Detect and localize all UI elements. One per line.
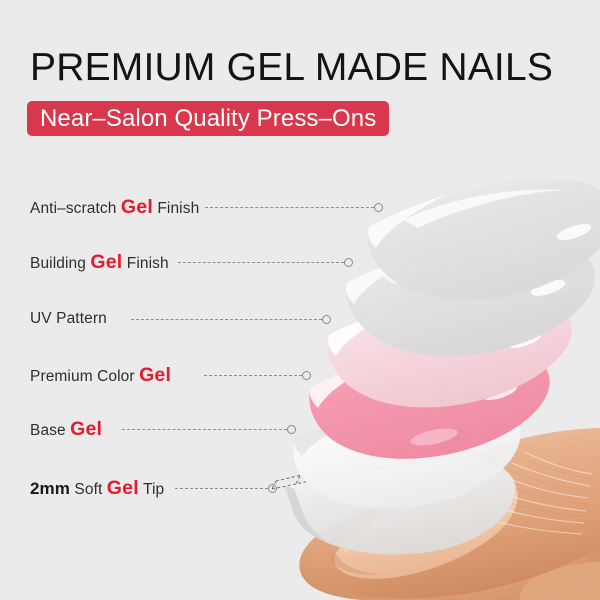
callout-label-part: Gel — [139, 364, 171, 386]
callout-label: UV Pattern — [30, 310, 107, 328]
callout-label: Building Gel Finish — [30, 251, 169, 274]
uv-pattern-layer — [327, 290, 572, 407]
callout-label-part: UV Pattern — [30, 310, 107, 327]
callout-label: Premium Color Gel — [30, 364, 171, 387]
anti-scratch-gel-finish-layer — [367, 179, 600, 301]
leader-endpoint-marker — [302, 371, 311, 380]
callout-2mm-soft-gel-tip: 2mm Soft Gel Tip — [30, 476, 164, 500]
building-gel-finish-layer — [346, 237, 595, 357]
callout-label-part: Gel — [90, 251, 122, 273]
leader-line — [204, 375, 302, 377]
premium-color-gel-layer — [309, 343, 549, 458]
callout-anti-scratch-gel-finish: Anti–scratch Gel Finish — [30, 195, 199, 219]
leader-line — [205, 207, 374, 209]
callout-uv-pattern: UV Pattern — [30, 307, 107, 331]
callout-label-part: 2mm — [30, 479, 70, 498]
callout-label-part: Soft — [70, 481, 107, 498]
leader-line — [122, 429, 287, 431]
callout-label-part: Gel — [121, 196, 153, 218]
nail-layer-artwork — [0, 0, 600, 600]
callout-label: Base Gel — [30, 418, 102, 441]
callout-premium-color-gel: Premium Color Gel — [30, 363, 171, 387]
callout-label: Anti–scratch Gel Finish — [30, 196, 199, 219]
leader-endpoint-marker — [287, 425, 296, 434]
leader-line — [131, 319, 322, 321]
callout-label-part: Building — [30, 255, 90, 272]
leader-line — [175, 488, 268, 490]
callout-base-gel: Base Gel — [30, 417, 102, 441]
leader-line — [178, 262, 344, 264]
callout-label-part: Gel — [107, 477, 139, 499]
callout-label-part: Tip — [139, 481, 164, 498]
callout-label-part: Premium Color — [30, 368, 139, 385]
leader-endpoint-marker — [344, 258, 353, 267]
callout-label: 2mm Soft Gel Tip — [30, 477, 164, 500]
subtitle-badge: Near–Salon Quality Press–Ons — [27, 101, 389, 136]
callout-label-part: Base — [30, 422, 70, 439]
callout-label-part: Finish — [153, 200, 199, 217]
callout-label-part: Finish — [122, 255, 168, 272]
product-infographic: PREMIUM GEL MADE NAILS Near–Salon Qualit… — [0, 0, 600, 600]
leader-endpoint-marker — [322, 315, 331, 324]
page-title: PREMIUM GEL MADE NAILS — [30, 48, 553, 88]
fingertip-illustration — [299, 428, 600, 600]
callout-building-gel-finish: Building Gel Finish — [30, 250, 169, 274]
callout-label-part: Anti–scratch — [30, 200, 121, 217]
leader-endpoint-marker — [374, 203, 383, 212]
base-gel-layer — [293, 401, 520, 509]
leader-endpoint-marker — [268, 484, 277, 493]
callout-label-part: Gel — [70, 418, 102, 440]
soft-gel-tip-layer — [272, 451, 515, 554]
